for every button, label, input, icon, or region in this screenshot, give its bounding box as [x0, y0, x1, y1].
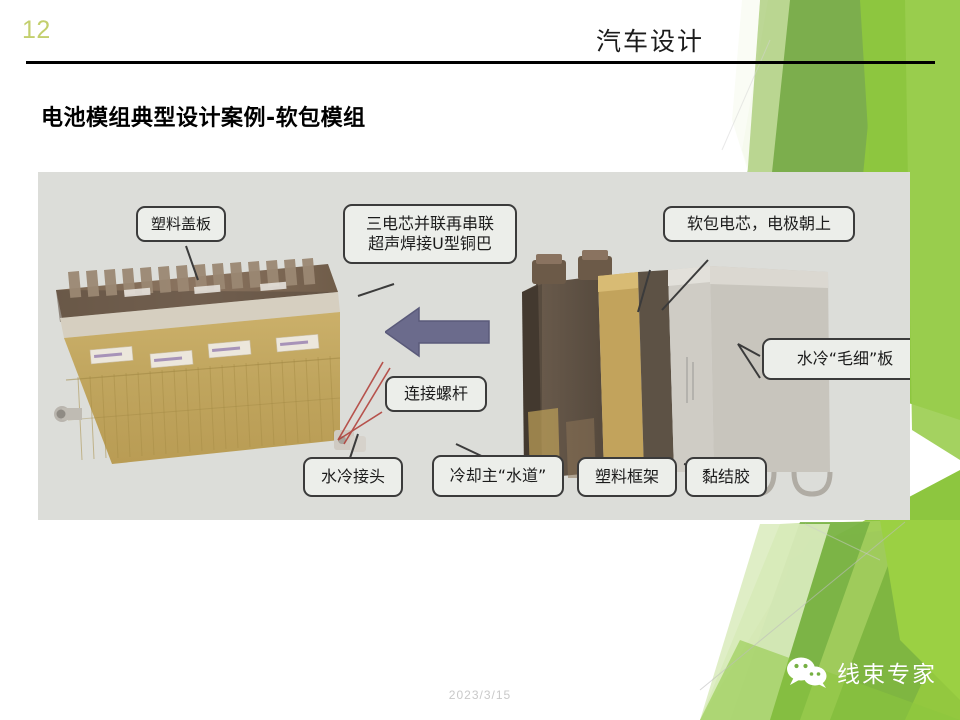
callout-plastic-frame: 塑料框架	[577, 457, 677, 497]
callout-main-water-channel: 冷却主“水道”	[432, 455, 564, 497]
page-title: 电池模组典型设计案例-软包模组	[41, 100, 366, 132]
wechat-watermark: 线束专家	[786, 655, 937, 689]
callout-cell-busbar: 三电芯并联再串联 超声焊接U型铜巴	[343, 204, 517, 264]
wechat-icon	[786, 656, 828, 688]
header-divider	[26, 61, 935, 64]
callout-water-connector: 水冷接头	[303, 457, 403, 497]
callout-pouch-cell: 软包电芯，电极朝上	[663, 206, 855, 242]
header-title: 汽车设计	[596, 22, 704, 58]
callout-cooling-plate: 水冷“毛细”板	[762, 338, 910, 380]
page-number: 12	[22, 16, 51, 45]
footer-date: 2023/3/15	[0, 688, 960, 702]
wechat-account-name: 线束专家	[837, 655, 937, 689]
battery-module-figure: 塑料盖板 三电芯并联再串联 超声焊接U型铜巴 软包电芯，电极朝上 连接螺杆 水冷…	[38, 172, 910, 520]
callout-connecting-rod: 连接螺杆	[385, 376, 487, 412]
callout-plastic-cover: 塑料盖板	[136, 206, 226, 242]
callout-adhesive: 黏结胶	[685, 457, 767, 497]
slide-canvas: 12 汽车设计 电池模组典型设计案例-软包模组	[0, 0, 960, 720]
